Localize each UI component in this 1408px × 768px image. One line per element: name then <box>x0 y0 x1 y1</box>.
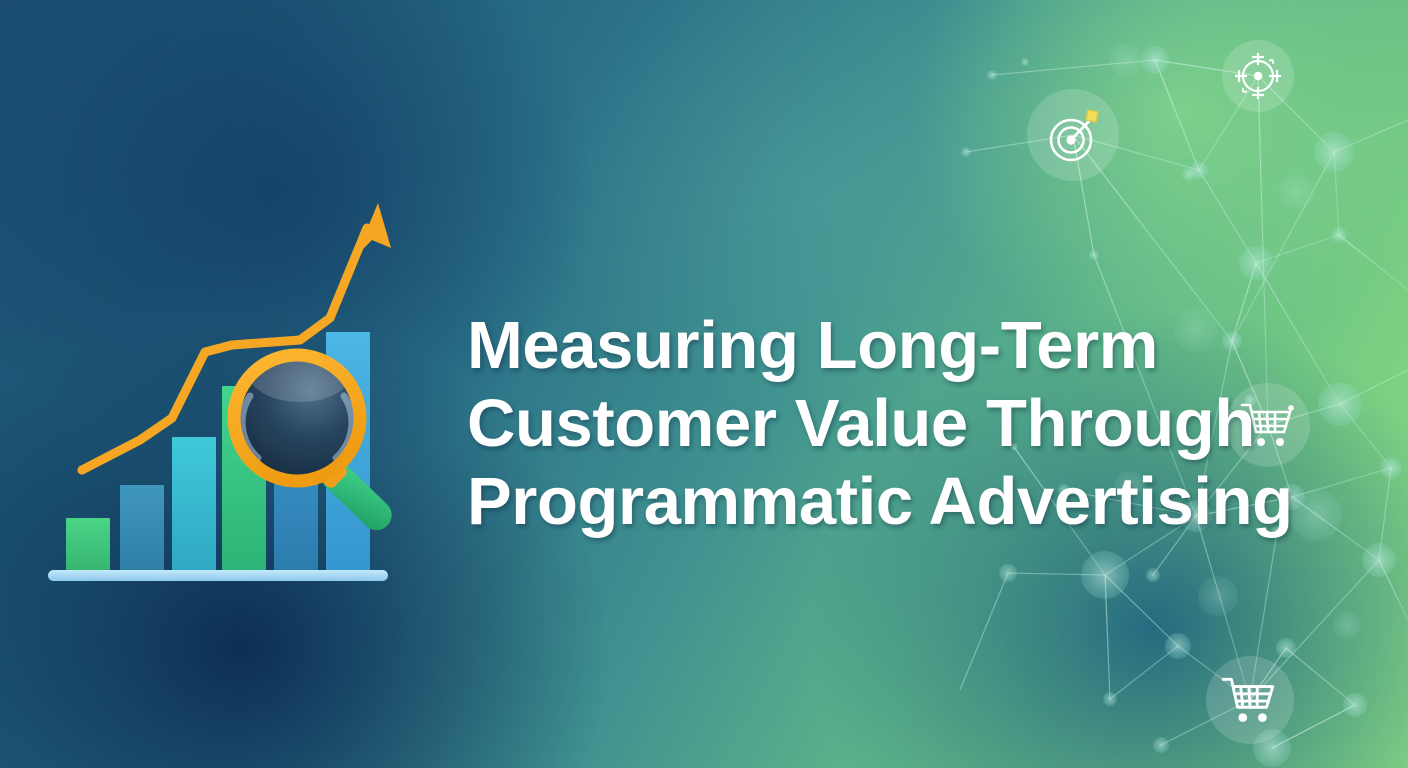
chart-bar <box>172 437 216 574</box>
crosshair-glyph <box>1231 49 1285 103</box>
banner-root: Measuring Long-Term Customer Value Throu… <box>0 0 1408 768</box>
chart-bar <box>66 518 110 574</box>
chart-baseline <box>48 570 388 581</box>
shopping-cart-glyph <box>1220 673 1280 727</box>
growth-bar-chart-illustration <box>0 0 470 768</box>
crosshair-target-icon <box>1222 40 1294 112</box>
shopping-cart-icon <box>1206 656 1294 744</box>
chart-bar <box>120 485 164 574</box>
page-title: Measuring Long-Term Customer Value Throu… <box>467 307 1257 541</box>
page-title-line-3: Programmatic Advertising <box>467 463 1257 541</box>
page-title-line-2: Customer Value Through <box>467 385 1257 463</box>
page-title-line-1: Measuring Long-Term <box>467 307 1257 385</box>
target-dart-glyph <box>1042 104 1104 166</box>
target-dart-icon <box>1027 89 1119 181</box>
